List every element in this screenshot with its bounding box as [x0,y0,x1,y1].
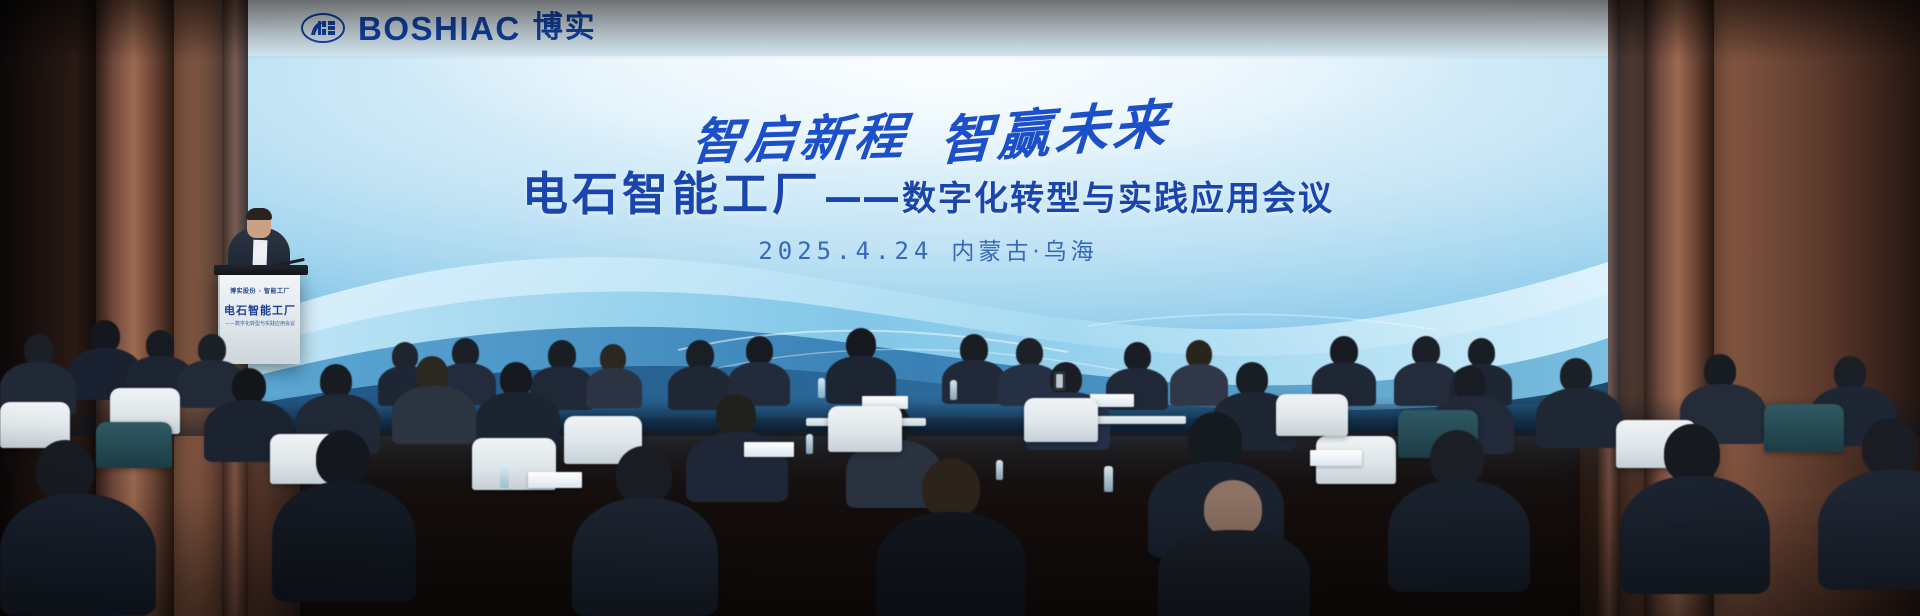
screen-dateline: 2025.4.24内蒙古·乌海 [248,232,1608,266]
attendee-head [320,364,352,398]
speaker-shirt [253,240,268,266]
attendee-nametag [744,442,794,457]
attendee-nametag [528,472,582,488]
water-bottle [806,434,813,454]
water-bottle [500,462,509,488]
attendee-head [500,362,532,396]
screen-title-block: 电石智能工厂——数字化转型与实践应用会议 [248,158,1608,224]
attendee-head [36,440,94,500]
attendee-head [746,336,773,365]
attendee-shoulders [392,386,476,444]
attendee-head [1204,480,1262,536]
water-bottle [1104,466,1113,492]
chair [96,422,172,468]
attendee-shoulders [272,482,416,602]
attendee-shoulders [1158,530,1310,616]
attendee-head [232,368,266,404]
attendee-shoulders [1536,388,1622,448]
attendee-head [1862,418,1918,476]
attendee-head [316,430,370,486]
attendee-head [1016,338,1043,367]
attendee-shoulders [0,494,156,616]
screen-title-dash: —— [824,175,900,219]
attendee-head [1124,342,1151,371]
audience-area [0,300,1920,616]
ceiling-shadow [0,0,1920,60]
attendee-head [616,446,672,504]
attendee-head [1188,412,1242,468]
speaker-hair [246,208,272,220]
attendee-head [1454,366,1486,400]
attendee-head [922,458,980,518]
podium-brand-line: 博实股份 · 智能工厂 [226,286,294,295]
attendee-head [716,394,756,436]
chair [1276,394,1348,436]
water-bottle [996,460,1003,480]
attendee-shoulders [1170,364,1228,406]
chair [1024,398,1098,442]
screen-title-sub: 数字化转型与实践应用会议 [902,179,1334,219]
attendee-head [1560,358,1592,392]
attendee-head [1704,354,1736,388]
podium-top-surface [214,265,308,275]
screen-location: 内蒙古·乌海 [951,239,1097,265]
attendee-head [1664,424,1720,482]
water-bottle [950,380,957,400]
conference-photo-scene: 智启新程智赢未来 电石智能工厂——数字化转型与实践应用会议 2025.4.24内… [0,0,1920,616]
attendee-shoulders [876,512,1026,616]
attendee-head [1236,362,1268,396]
attendee-head [1430,430,1484,486]
water-bottle [818,378,825,398]
chair [1764,404,1844,452]
attendee-head [416,356,448,390]
screen-date: 2025.4.24 [758,237,933,265]
attendee-head [1834,356,1866,390]
attendee-nametag [1310,450,1362,466]
attendee-head [1468,338,1495,367]
attendee-shoulders [572,498,718,616]
attendee-shoulders [1818,470,1920,590]
screen-title-main: 电石智能工厂 [522,167,822,221]
attendee-shoulders [586,368,642,408]
attendee-phone [1054,372,1065,390]
chair [828,406,902,452]
phone-screen [1056,374,1063,388]
attendee-shoulders [1620,476,1770,594]
attendee-shoulders [1388,480,1530,592]
